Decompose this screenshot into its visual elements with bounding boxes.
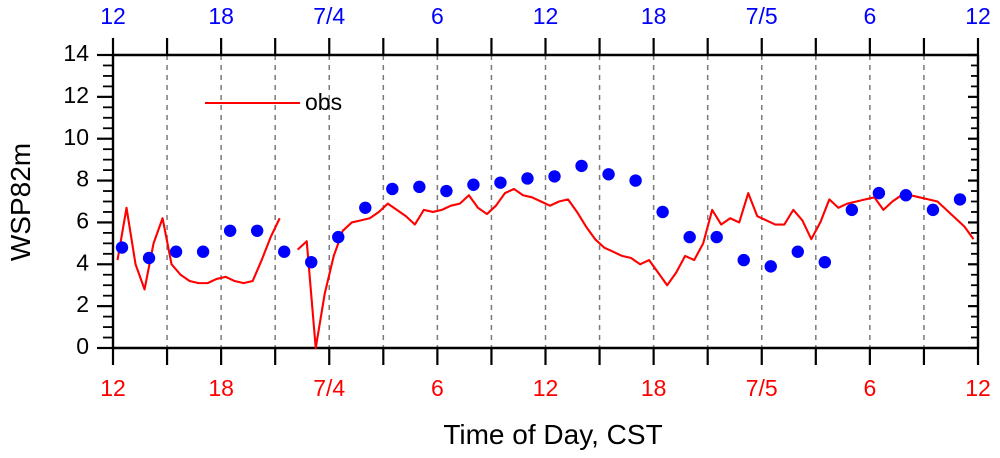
y-tick-label: 6 — [76, 208, 89, 234]
x-tick-label-bottom: 7/5 — [746, 375, 778, 401]
model-data-point — [170, 246, 182, 258]
model-data-point — [575, 160, 587, 172]
x-tick-label-top: 12 — [965, 3, 991, 29]
model-data-point — [278, 246, 290, 258]
wind-speed-timeseries-chart: 02468101214 12187/4612187/5612 12187/461… — [0, 0, 1000, 458]
x-tick-label-bottom: 18 — [208, 375, 234, 401]
y-axis-tick-labels: 02468101214 — [63, 40, 89, 359]
x-tick-label-top: 6 — [431, 3, 444, 29]
model-data-point — [413, 181, 425, 193]
model-data-point — [629, 174, 641, 186]
model-data-point — [224, 225, 236, 237]
model-data-point — [900, 189, 912, 201]
x-tick-label-top: 7/5 — [746, 3, 778, 29]
model-data-point — [305, 256, 317, 268]
x-axis-top-ticks — [113, 38, 978, 55]
x-axis-bottom-ticks — [113, 348, 978, 365]
legend: obs — [205, 89, 342, 115]
y-axis-ticks — [97, 55, 978, 348]
model-data-point — [873, 187, 885, 199]
x-axis-top-tick-labels: 12187/4612187/5612 — [100, 3, 991, 29]
y-tick-label: 2 — [76, 291, 89, 317]
x-tick-label-bottom: 12 — [100, 375, 126, 401]
x-tick-label-bottom: 6 — [431, 375, 444, 401]
model-data-point — [467, 179, 479, 191]
model-data-point — [683, 231, 695, 243]
x-tick-label-top: 12 — [100, 3, 126, 29]
legend-obs-label: obs — [305, 89, 342, 115]
model-data-point — [954, 193, 966, 205]
model-data-point — [765, 260, 777, 272]
x-tick-label-top: 7/4 — [313, 3, 345, 29]
x-tick-label-top: 12 — [533, 3, 559, 29]
y-tick-label: 10 — [63, 124, 89, 150]
model-data-point — [521, 172, 533, 184]
x-tick-label-top: 18 — [208, 3, 234, 29]
model-data-point — [386, 183, 398, 195]
model-data-point — [359, 202, 371, 214]
model-data-point — [711, 231, 723, 243]
x-tick-label-top: 6 — [863, 3, 876, 29]
grid-lines — [167, 55, 924, 348]
model-data-point — [197, 246, 209, 258]
model-data-point — [738, 254, 750, 266]
model-data-point — [846, 204, 858, 216]
x-tick-label-bottom: 18 — [641, 375, 667, 401]
model-series-markers — [116, 160, 966, 273]
y-tick-label: 12 — [63, 82, 89, 108]
y-axis-title: WSP82m — [5, 143, 36, 261]
model-data-point — [440, 185, 452, 197]
model-data-point — [116, 241, 128, 253]
model-data-point — [332, 231, 344, 243]
model-data-point — [792, 246, 804, 258]
y-tick-label: 0 — [76, 333, 89, 359]
model-data-point — [927, 204, 939, 216]
x-tick-label-bottom: 12 — [965, 375, 991, 401]
model-data-point — [548, 170, 560, 182]
x-tick-label-top: 18 — [641, 3, 667, 29]
x-axis-bottom-tick-labels: 12187/4612187/5612 — [100, 375, 991, 401]
model-data-point — [251, 225, 263, 237]
model-data-point — [602, 168, 614, 180]
obs-line-segment — [298, 189, 974, 348]
model-data-point — [819, 256, 831, 268]
y-tick-label: 4 — [76, 249, 89, 275]
y-tick-label: 14 — [63, 40, 89, 66]
model-data-point — [656, 206, 668, 218]
y-tick-label: 8 — [76, 166, 89, 192]
x-axis-title: Time of Day, CST — [443, 419, 662, 450]
model-data-point — [143, 252, 155, 264]
x-tick-label-bottom: 12 — [533, 375, 559, 401]
x-tick-label-bottom: 7/4 — [313, 375, 345, 401]
chart-page: 02468101214 12187/4612187/5612 12187/461… — [0, 0, 1000, 458]
x-tick-label-bottom: 6 — [863, 375, 876, 401]
model-data-point — [494, 176, 506, 188]
